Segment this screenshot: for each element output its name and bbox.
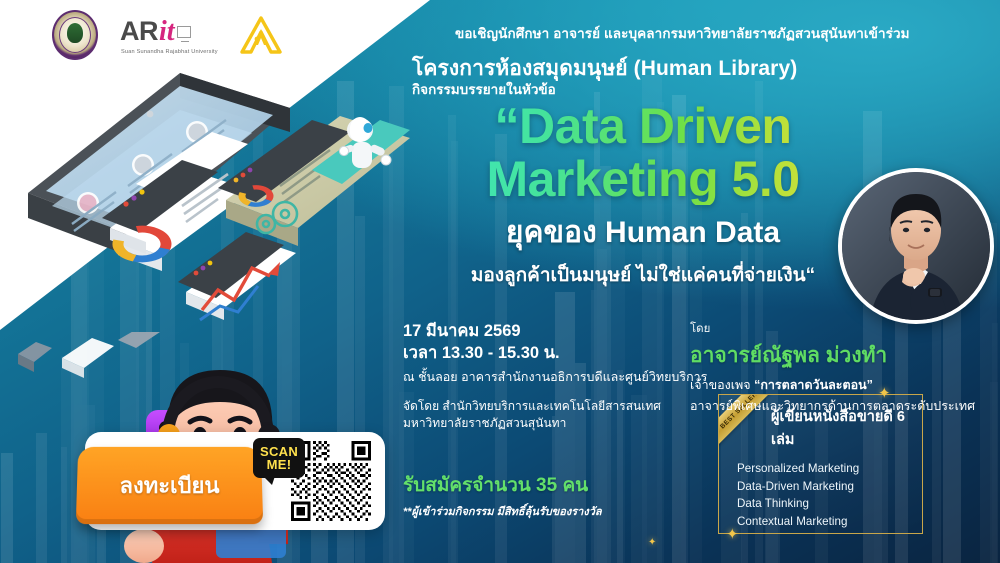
sparkle-icon: ✦ (878, 386, 891, 401)
university-seal-icon (52, 10, 98, 60)
event-organizer-line1: จัดโดย สำนักวิทยบริการและเทคโนโลยีสารสนเ… (403, 398, 673, 415)
arit-logo-it: it (159, 16, 175, 48)
event-info-block: 17 มีนาคม 2569 เวลา 13.30 - 15.30 น. ณ ช… (403, 320, 673, 433)
scan-me-tag: SCAN ME! (253, 438, 305, 478)
registration-quota: รับสมัครจำนวน 35 คน (403, 470, 703, 500)
registration-info: รับสมัครจำนวน 35 คน **ผู้เข้าร่วมกิจกรรม… (403, 470, 703, 520)
speaker-by-label: โดย (690, 320, 1000, 338)
speaker-credit-2: อาจารย์พิเศษและวิทยากรด้านการตลาดระดับปร… (690, 396, 1000, 416)
invite-line: ขอเชิญนักศึกษา อาจารย์ และบุคลากรมหาวิทย… (455, 22, 995, 44)
event-date: 17 มีนาคม 2569 (403, 320, 673, 342)
books-list: Personalized Marketing Data-Driven Marke… (737, 460, 922, 534)
isometric-dashboard-illustration (0, 28, 420, 358)
registration-panel: ลงทะเบียน SCAN ME! (85, 432, 385, 530)
list-item: Contextual Marketing (737, 513, 922, 531)
list-item: Social Listening (737, 530, 922, 534)
list-item: Data-Driven Marketing (737, 478, 922, 496)
speaker-credit-1: เจ้าของเพจ “การตลาดวันละตอน” (690, 375, 1000, 395)
main-title-line4: มองลูกค้าเป็นมนุษย์ ไม่ใช่แค่คนที่จ่ายเง… (408, 260, 878, 290)
poster-canvas: AR it Suan Sunandha Rajabhat University (0, 0, 1000, 563)
sparkle-icon: ✦ (648, 538, 656, 548)
scan-me-line2: ME! (267, 458, 292, 471)
main-title-line1: “Data Driven (408, 100, 878, 153)
registration-note: **ผู้เข้าร่วมกิจกรรม มีสิทธิ์ลุ้นรับของร… (403, 502, 703, 520)
speaker-page-name: “การตลาดวันละตอน” (754, 378, 873, 392)
arit-logo-subtitle: Suan Sunandha Rajabhat University (121, 49, 218, 55)
list-item: Data Thinking (737, 495, 922, 513)
activity-subtitle: กิจกรรมบรรยายในหัวข้อ (412, 78, 972, 100)
event-venue: ณ ชั้นลอย อาคารสำนักงานอธิการบดีและศูนย์… (403, 369, 673, 387)
monitor-icon (177, 26, 191, 38)
arit-logo: AR it Suan Sunandha Rajabhat University (120, 16, 218, 55)
speaker-info: โดย อาจารย์ณัฐพล ม่วงทำ เจ้าของเพจ “การต… (690, 320, 1000, 416)
register-button-label: ลงทะเบียน (119, 468, 220, 503)
main-title: “Data Driven Marketing 5.0 ยุคของ Human … (408, 100, 878, 290)
register-button[interactable]: ลงทะเบียน (76, 447, 263, 524)
arit-logo-row: AR it (120, 16, 191, 48)
logo-row: AR it Suan Sunandha Rajabhat University (52, 10, 282, 60)
list-item: Personalized Marketing (737, 460, 922, 478)
event-time: เวลา 13.30 - 15.30 น. (403, 342, 673, 364)
speaker-name: อาจารย์ณัฐพล ม่วงทำ (690, 339, 1000, 372)
main-title-line2: Marketing 5.0 (408, 153, 878, 206)
event-organizer-line2: มหาวิทยาลัยราชภัฏสวนสุนันทา (403, 415, 673, 432)
arit-a-mark-icon (240, 15, 282, 55)
sparkle-icon: ✦ (726, 527, 739, 542)
speaker-credit-prefix: เจ้าของเพจ (690, 378, 754, 392)
arit-logo-ar: AR (120, 16, 158, 47)
main-title-line3: ยุคของ Human Data (408, 209, 878, 256)
